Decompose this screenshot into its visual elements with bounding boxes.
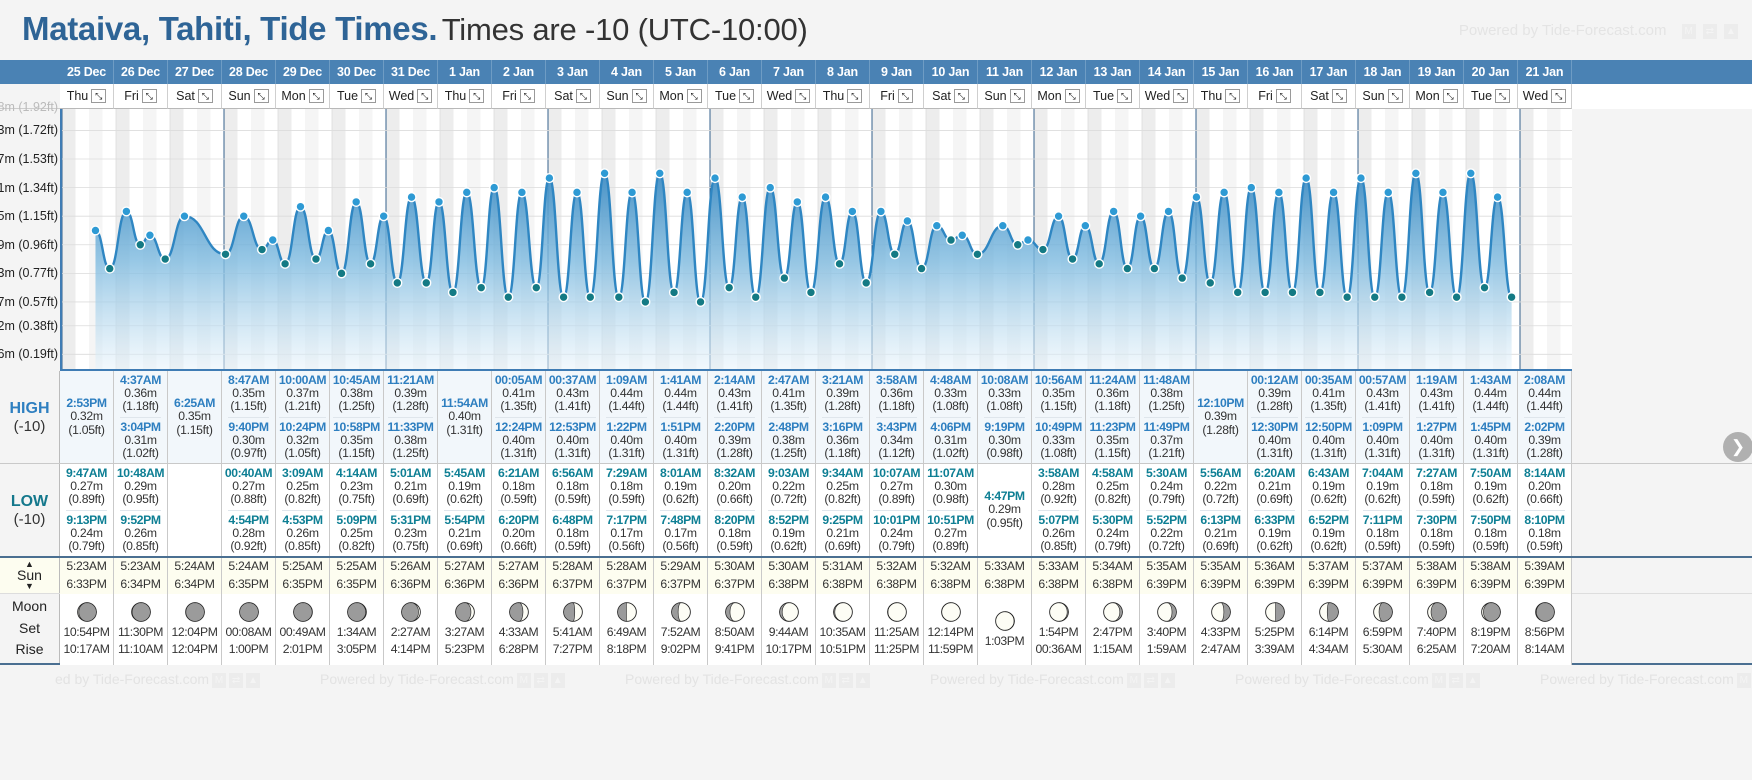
moon-phase-icon xyxy=(454,601,476,623)
moon-phase-icon xyxy=(724,601,746,623)
watermark-row: ed by Tide-Forecast.comM⇄▲Powered by Tid… xyxy=(0,665,1752,693)
low-tide-time: 5:09PM xyxy=(336,514,376,527)
low-tide-time: 7:30PM xyxy=(1416,514,1456,527)
low-tide-meters: 0.18m xyxy=(1524,527,1564,540)
expand-day-icon[interactable]: ⤡ xyxy=(417,89,432,103)
high-tide-feet: (1.28ft) xyxy=(1197,424,1244,437)
date-header-gutter xyxy=(0,60,60,84)
expand-day-icon[interactable]: ⤡ xyxy=(1551,89,1566,103)
expand-day-icon[interactable]: ⤡ xyxy=(1225,89,1240,103)
moonrise-time: 7:20AM xyxy=(1471,641,1511,658)
low-tide-feet: (0.66ft) xyxy=(1524,493,1565,506)
low-tide-feet: (0.85ft) xyxy=(282,540,322,553)
y-axis-tick-label: 0.23m (0.77ft) xyxy=(0,266,58,280)
expand-day-icon[interactable]: ⤡ xyxy=(1495,89,1510,103)
low-tide-time: 4:54PM xyxy=(228,514,268,527)
low-tide-feet: (0.69ft) xyxy=(390,493,431,506)
y-axis-tick-label: 0.35m (1.15ft) xyxy=(0,209,58,223)
high-tide-cell: 00:37AM0.43m(1.41ft)12:53PM0.40m(1.31ft) xyxy=(546,371,600,463)
low-tide-event: 4:53PM0.26m(0.85ft) xyxy=(282,510,322,555)
moonset-time: 12:14PM xyxy=(928,624,974,641)
dayname-header-cell: Fri⤡ xyxy=(492,84,546,109)
moonrise-time: 2:01PM xyxy=(283,641,323,658)
low-tide-event: 5:07PM0.26m(0.85ft) xyxy=(1038,510,1078,555)
low-tide-feet: (0.82ft) xyxy=(1092,493,1133,506)
high-tide-feet: (1.25ft) xyxy=(768,447,808,460)
low-tide-time: 7:50PM xyxy=(1470,514,1510,527)
high-tide-time: 11:49PM xyxy=(1144,421,1190,434)
high-tide-feet: (1.02ft) xyxy=(120,447,160,460)
high-tide-cell: 1:09AM0.44m(1.44ft)1:22PM0.40m(1.31ft) xyxy=(600,371,654,463)
high-tide-feet: (1.02ft) xyxy=(930,447,970,460)
date-header-cell[interactable]: 10 Jan xyxy=(924,60,978,84)
high-tide-time: 1:45PM xyxy=(1470,421,1510,434)
high-tide-event: 4:37AM0.36m(1.18ft) xyxy=(120,373,161,415)
high-tide-feet: (1.41ft) xyxy=(549,400,596,413)
date-header-cell[interactable]: 21 Jan xyxy=(1518,60,1572,84)
expand-day-icon[interactable]: ⤡ xyxy=(1117,89,1132,103)
low-tide-meters: 0.23m xyxy=(390,527,430,540)
high-tide-event: 3:43PM0.34m(1.12ft) xyxy=(876,417,916,462)
low-tide-event: 10:51PM0.27m(0.89ft) xyxy=(927,510,974,555)
moon-cell: 3:40PM1:59AM xyxy=(1140,594,1194,665)
sunset-time: 6:34PM xyxy=(120,576,160,594)
high-tide-cell: 1:41AM0.44m(1.44ft)1:51PM0.40m(1.31ft) xyxy=(654,371,708,463)
expand-day-icon[interactable]: ⤡ xyxy=(739,89,754,103)
low-tide-event: 5:09PM0.25m(0.82ft) xyxy=(336,510,376,555)
refresh-icon: ⇄ xyxy=(1449,673,1463,688)
date-header-cell[interactable]: 8 Jan xyxy=(816,60,870,84)
moonset-time: 4:33AM xyxy=(499,624,539,641)
date-header-cell[interactable]: 20 Jan xyxy=(1464,60,1518,84)
date-header-cell[interactable]: 1 Jan xyxy=(438,60,492,84)
dayname-header-cell: Tue⤡ xyxy=(330,84,384,109)
chart-y-axis: 0.53m (1.72ft)0.47m (1.53ft)0.41m (1.34f… xyxy=(0,109,60,371)
high-tide-event: 11:23PM0.35m(1.15ft) xyxy=(1090,417,1136,462)
low-tide-cell: 00:40AM0.27m(0.88ft)4:54PM0.28m(0.92ft) xyxy=(222,464,276,556)
dayname-header-cell: Thu⤡ xyxy=(1194,84,1248,109)
sunset-time: 6:38PM xyxy=(984,576,1024,594)
dayname-label: Fri xyxy=(502,89,517,103)
sun-cell: 5:38AM6:39PM xyxy=(1464,558,1518,594)
low-tide-meters: 0.25m xyxy=(336,527,376,540)
low-tide-feet: (0.69ft) xyxy=(1200,540,1240,553)
low-tide-feet: (0.59ft) xyxy=(1416,493,1457,506)
high-tide-feet: (1.21ft) xyxy=(279,400,326,413)
sunset-time: 6:35PM xyxy=(336,576,376,594)
sunrise-time: 5:38AM xyxy=(1416,558,1456,576)
moonrise-time: 1:00PM xyxy=(229,641,269,658)
sunset-time: 6:39PM xyxy=(1470,576,1510,594)
date-header-cell[interactable]: 31 Dec xyxy=(384,60,438,84)
dayname-label: Thu xyxy=(67,89,89,103)
expand-day-icon[interactable]: ⤡ xyxy=(1173,89,1188,103)
low-tide-feet: (0.89ft) xyxy=(66,493,107,506)
high-tide-feet: (1.25ft) xyxy=(1143,400,1190,413)
low-tide-meters: 0.18m xyxy=(1416,527,1456,540)
moon-phase-icon xyxy=(292,601,314,623)
high-tide-event: 3:58AM0.36m(1.18ft) xyxy=(876,373,917,415)
moonrise-time: 10:17PM xyxy=(766,641,812,658)
high-tide-event: 3:21AM0.39m(1.28ft) xyxy=(822,373,863,415)
refresh-icon: ⇄ xyxy=(229,673,243,688)
dayname-header-cell: Wed⤡ xyxy=(762,84,816,109)
moonset-time: 8:50AM xyxy=(715,624,755,641)
watermark-text: Powered by Tide-Forecast.com xyxy=(320,671,514,687)
page-subtitle: Times are -10 (UTC-10:00) xyxy=(442,12,808,47)
low-tide-feet: (0.75ft) xyxy=(336,493,377,506)
date-header-cell[interactable]: 4 Jan xyxy=(600,60,654,84)
sunset-time: 6:38PM xyxy=(1038,576,1078,594)
high-tide-event: 1:22PM0.40m(1.31ft) xyxy=(606,417,646,462)
low-tide-feet: (0.89ft) xyxy=(873,493,920,506)
high-tide-meters: 0.32m xyxy=(279,434,326,447)
moon-cell: 6:49AM8:18PM xyxy=(600,594,654,665)
low-tide-feet: (0.69ft) xyxy=(1254,493,1295,506)
low-tide-cell: 6:21AM0.18m(0.59ft)6:20PM0.20m(0.66ft) xyxy=(492,464,546,556)
moon-cell: 12:14PM11:59PM xyxy=(924,594,978,665)
high-tide-cell: 00:35AM0.41m(1.35ft)12:50PM0.40m(1.31ft) xyxy=(1302,371,1356,463)
moon-cell: 4:33PM2:47AM xyxy=(1194,594,1248,665)
sun-cell: 5:33AM6:38PM xyxy=(978,558,1032,594)
high-tide-event: 10:24PM0.32m(1.05ft) xyxy=(279,417,326,462)
low-tide-meters: 0.26m xyxy=(120,527,160,540)
moon-phase-icon xyxy=(238,601,260,623)
expand-day-icon[interactable]: ⤡ xyxy=(309,89,324,103)
high-tide-time: 2:02PM xyxy=(1524,421,1564,434)
sun-cell: 5:34AM6:38PM xyxy=(1086,558,1140,594)
date-header-cell[interactable]: 25 Dec xyxy=(60,60,114,84)
sun-cell: 5:32AM6:38PM xyxy=(924,558,978,594)
expand-day-icon[interactable]: ⤡ xyxy=(1443,89,1458,103)
tide-forecast-page: Mataiva, Tahiti, Tide Times. Times are -… xyxy=(0,0,1752,780)
high-tide-feet: (1.31ft) xyxy=(1251,447,1298,460)
high-tide-event: 1:51PM0.40m(1.31ft) xyxy=(660,417,700,462)
sunrise-time: 5:37AM xyxy=(1362,558,1402,576)
moon-cell: 7:40PM6:25AM xyxy=(1410,594,1464,665)
moonset-time: 8:56PM xyxy=(1525,624,1565,641)
moon-cell: 12:04PM12:04PM xyxy=(168,594,222,665)
scroll-right-button[interactable]: ❯ xyxy=(1723,432,1752,462)
low-tide-event: 7:11PM0.18m(0.59ft) xyxy=(1363,510,1403,555)
date-header-cell[interactable]: 17 Jan xyxy=(1302,60,1356,84)
low-tide-tz: (-10) xyxy=(14,511,46,528)
low-tide-time: 9:52PM xyxy=(120,514,160,527)
date-header-cell[interactable]: 15 Jan xyxy=(1194,60,1248,84)
high-tide-meters: 0.31m xyxy=(930,434,970,447)
high-tide-row: HIGH (-10) 2:53PM0.32m(1.05ft)4:37AM0.36… xyxy=(0,371,1752,464)
date-header-cell[interactable]: 19 Jan xyxy=(1410,60,1464,84)
windy-icon: M xyxy=(1127,673,1141,688)
low-tide-event: 10:07AM0.27m(0.89ft) xyxy=(873,466,920,508)
sun-cell: 5:30AM6:37PM xyxy=(708,558,762,594)
low-tide-event: 7:50PM0.18m(0.59ft) xyxy=(1470,510,1510,555)
windy-icon: M xyxy=(212,673,226,688)
moon-phase-icon xyxy=(76,601,98,623)
moonset-time: 5:41AM xyxy=(553,624,593,641)
expand-day-icon[interactable]: ⤡ xyxy=(576,89,591,103)
sunset-time: 6:38PM xyxy=(1092,576,1132,594)
date-header-cell[interactable]: 16 Jan xyxy=(1248,60,1302,84)
tide-table-viewport[interactable]: 25 Dec26 Dec27 Dec28 Dec29 Dec30 Dec31 D… xyxy=(0,60,1752,780)
high-tide-meters: 0.35m xyxy=(333,434,380,447)
watermark-icons: M⇄▲ xyxy=(1429,671,1480,687)
date-header-cell[interactable]: 6 Jan xyxy=(708,60,762,84)
windy-icon: M xyxy=(822,673,836,688)
high-tide-feet: (1.41ft) xyxy=(714,400,755,413)
low-tide-cell: 8:01AM0.19m(0.62ft)7:48PM0.17m(0.56ft) xyxy=(654,464,708,556)
high-tide-time: 12:50PM xyxy=(1305,421,1352,434)
moonset-time: 10:54PM xyxy=(64,624,110,641)
expand-day-icon[interactable]: ⤡ xyxy=(142,89,157,103)
date-header-cell[interactable]: 26 Dec xyxy=(114,60,168,84)
dayname-header-cell: Mon⤡ xyxy=(1032,84,1086,109)
low-tide-feet: (0.66ft) xyxy=(714,493,755,506)
high-tide-time: 2:20PM xyxy=(714,421,754,434)
low-tide-time: 6:33PM xyxy=(1254,514,1294,527)
low-tide-cell: 10:07AM0.27m(0.89ft)10:01PM0.24m(0.79ft) xyxy=(870,464,924,556)
dayname-label: Sat xyxy=(176,89,195,103)
sunset-time: 6:37PM xyxy=(714,576,754,594)
date-header-cell[interactable]: 7 Jan xyxy=(762,60,816,84)
moonset-time: 3:27AM xyxy=(445,624,485,641)
high-tide-feet: (0.97ft) xyxy=(228,447,268,460)
high-tide-time: 9:19PM xyxy=(984,421,1024,434)
low-tide-feet: (0.62ft) xyxy=(1362,493,1403,506)
dayname-header-cell: Thu⤡ xyxy=(60,84,114,109)
high-tide-feet: (1.44ft) xyxy=(1470,400,1511,413)
expand-day-icon[interactable]: ⤡ xyxy=(520,89,535,103)
powered-by-text: Powered by Tide-Forecast.com xyxy=(1459,22,1667,39)
low-tide-feet: (0.95ft) xyxy=(984,517,1024,530)
sunset-time: 6:36PM xyxy=(498,576,538,594)
high-tide-time: 10:49PM xyxy=(1035,421,1082,434)
moonrise-time: 2:47AM xyxy=(1201,641,1241,658)
tide-curve-plot xyxy=(60,109,1572,371)
moonrise-time: 10:51PM xyxy=(820,641,866,658)
high-tide-time: 12:24PM xyxy=(495,421,542,434)
moon-phase-icon xyxy=(778,601,800,623)
date-header-cell[interactable]: 2 Jan xyxy=(492,60,546,84)
y-axis-tick-label: 0.06m (0.19ft) xyxy=(0,347,58,361)
expand-day-icon[interactable]: ⤡ xyxy=(687,89,702,103)
high-tide-feet: (1.28ft) xyxy=(1251,400,1298,413)
windy-icon: M xyxy=(1682,24,1696,39)
high-tide-feet: (1.15ft) xyxy=(333,447,380,460)
expand-day-icon[interactable]: ⤡ xyxy=(361,89,376,103)
dayname-header-cell: Wed⤡ xyxy=(1140,84,1194,109)
moon-phase-icon xyxy=(1426,601,1448,623)
expand-day-icon[interactable]: ⤡ xyxy=(795,89,810,103)
high-tide-meters: 0.40m xyxy=(549,434,596,447)
expand-day-icon[interactable]: ⤡ xyxy=(632,89,647,103)
sun-cell: 5:25AM6:35PM xyxy=(276,558,330,594)
low-tide-time: 8:20PM xyxy=(714,514,754,527)
expand-day-icon[interactable]: ⤡ xyxy=(847,89,862,103)
low-tide-event: 7:29AM0.18m(0.59ft) xyxy=(606,466,647,508)
high-tide-event: 12:24PM0.40m(1.31ft) xyxy=(495,417,542,462)
high-tide-event: 00:35AM0.41m(1.35ft) xyxy=(1305,373,1352,415)
sunrise-time: 5:25AM xyxy=(336,558,376,576)
high-tide-event: 4:48AM0.33m(1.08ft) xyxy=(930,373,971,415)
sun-cell: 5:37AM6:39PM xyxy=(1356,558,1410,594)
high-tide-cell: 2:47AM0.41m(1.35ft)2:48PM0.38m(1.25ft) xyxy=(762,371,816,463)
high-tide-cell: 10:45AM0.38m(1.25ft)10:58PM0.35m(1.15ft) xyxy=(330,371,384,463)
expand-day-icon[interactable]: ⤡ xyxy=(898,89,913,103)
high-tide-event: 12:50PM0.40m(1.31ft) xyxy=(1305,417,1352,462)
watermark-icons: M⇄▲ xyxy=(819,671,870,687)
watermark: ed by Tide-Forecast.comM⇄▲ xyxy=(55,671,260,688)
low-tide-feet: (0.79ft) xyxy=(66,540,106,553)
high-tide-time: 12:30PM xyxy=(1251,421,1298,434)
high-tide-event: 10:00AM0.37m(1.21ft) xyxy=(279,373,326,415)
date-header-cell[interactable]: 13 Jan xyxy=(1086,60,1140,84)
date-header-cell[interactable]: 5 Jan xyxy=(654,60,708,84)
low-tide-feet: (0.59ft) xyxy=(552,493,593,506)
sunrise-time: 5:39AM xyxy=(1524,558,1564,576)
sunset-time: 6:38PM xyxy=(768,576,808,594)
moonset-time: 1:54PM xyxy=(1039,624,1079,641)
dayname-label: Tue xyxy=(1471,89,1492,103)
low-tide-feet: (0.85ft) xyxy=(120,540,160,553)
low-tide-feet: (0.95ft) xyxy=(117,493,164,506)
moonrise-time: 3:39AM xyxy=(1255,641,1295,658)
expand-day-icon[interactable]: ⤡ xyxy=(1010,89,1025,103)
dayname-header-cell: Mon⤡ xyxy=(654,84,708,109)
low-tide-feet: (0.82ft) xyxy=(822,493,863,506)
expand-day-icon[interactable]: ⤡ xyxy=(1276,89,1291,103)
moonset-time: 5:25PM xyxy=(1255,624,1295,641)
low-tide-event: 9:52PM0.26m(0.85ft) xyxy=(120,510,160,555)
date-header-cell[interactable]: 11 Jan xyxy=(978,60,1032,84)
date-header-cell[interactable]: 12 Jan xyxy=(1032,60,1086,84)
moonrise-time: 4:14PM xyxy=(391,641,431,658)
high-tide-feet: (1.31ft) xyxy=(1416,447,1456,460)
dayname-header-cell: Thu⤡ xyxy=(816,84,870,109)
expand-day-icon[interactable]: ⤡ xyxy=(1065,89,1080,103)
low-tide-feet: (0.72ft) xyxy=(768,493,809,506)
low-tide-feet: (0.62ft) xyxy=(1254,540,1294,553)
page-header: Mataiva, Tahiti, Tide Times. Times are -… xyxy=(0,0,1752,60)
low-tide-cell: 6:56AM0.18m(0.59ft)6:48PM0.18m(0.59ft) xyxy=(546,464,600,556)
low-tide-event: 7:48PM0.17m(0.56ft) xyxy=(660,510,700,555)
low-tide-feet: (0.62ft) xyxy=(444,493,485,506)
sunrise-time: 5:32AM xyxy=(930,558,970,576)
high-tide-time: 1:09PM xyxy=(1362,421,1402,434)
moonset-time: 11:25AM xyxy=(874,624,919,641)
date-header-cell[interactable]: 27 Dec xyxy=(168,60,222,84)
dayname-label: Fri xyxy=(124,89,139,103)
sun-cell: 5:28AM6:37PM xyxy=(600,558,654,594)
high-tide-feet: (1.44ft) xyxy=(660,400,701,413)
date-header-cell[interactable]: 28 Dec xyxy=(222,60,276,84)
high-tide-cell: 00:57AM0.43m(1.41ft)1:09PM0.40m(1.31ft) xyxy=(1356,371,1410,463)
surf-icon: ▲ xyxy=(856,673,870,688)
moon-phase-icon xyxy=(1264,601,1286,623)
moonrise-time: 11:10AM xyxy=(118,641,163,658)
sun-row-label[interactable]: ▲ Sun ▼ xyxy=(0,558,60,593)
high-tide-cell: 11:24AM0.36m(1.18ft)11:23PM0.35m(1.15ft) xyxy=(1086,371,1140,463)
date-header-cell[interactable]: 14 Jan xyxy=(1140,60,1194,84)
date-header-cell[interactable]: 3 Jan xyxy=(546,60,600,84)
expand-day-icon[interactable]: ⤡ xyxy=(954,89,969,103)
sunset-time: 6:34PM xyxy=(174,576,214,594)
low-tide-feet: (0.82ft) xyxy=(282,493,323,506)
expand-day-icon[interactable]: ⤡ xyxy=(254,89,269,103)
moonset-time: 10:35AM xyxy=(820,624,866,641)
high-tide-meters: 0.38m xyxy=(768,434,808,447)
expand-day-icon[interactable]: ⤡ xyxy=(91,89,106,103)
date-header-cell[interactable]: 29 Dec xyxy=(276,60,330,84)
high-tide-feet: (1.08ft) xyxy=(981,400,1028,413)
high-tide-time: 3:43PM xyxy=(876,421,916,434)
high-tide-event: 12:53PM0.40m(1.31ft) xyxy=(549,417,596,462)
low-tide-event: 8:52PM0.19m(0.62ft) xyxy=(768,510,808,555)
high-tide-feet: (1.15ft) xyxy=(228,400,269,413)
sun-cell: 5:32AM6:38PM xyxy=(870,558,924,594)
dayname-header-cell: Sat⤡ xyxy=(168,84,222,109)
expand-day-icon[interactable]: ⤡ xyxy=(469,89,484,103)
high-tide-time: 11:33PM xyxy=(388,421,434,434)
high-tide-event: 2:53PM0.32m(1.05ft) xyxy=(66,396,106,438)
windy-icon: M xyxy=(1432,673,1446,688)
refresh-icon: ⇄ xyxy=(1144,673,1158,688)
sunset-time: 6:37PM xyxy=(660,576,700,594)
expand-day-icon[interactable]: ⤡ xyxy=(198,89,213,103)
low-tide-event: 5:56AM0.22m(0.72ft) xyxy=(1200,466,1241,508)
high-tide-event: 1:09PM0.40m(1.31ft) xyxy=(1362,417,1402,462)
moon-phase-icon xyxy=(1318,601,1340,623)
watermark-text: Powered by Tide-Forecast.com xyxy=(1540,671,1734,687)
dayname-label: Sat xyxy=(932,89,951,103)
low-tide-feet: (0.79ft) xyxy=(1146,493,1187,506)
low-tide-event: 7:50AM0.19m(0.62ft) xyxy=(1470,466,1511,508)
high-tide-cell: 6:25AM0.35m(1.15ft) xyxy=(168,371,222,463)
sunset-time: 6:35PM xyxy=(282,576,322,594)
moonset-time: 11:30PM xyxy=(118,624,163,641)
low-tide-event: 6:48PM0.18m(0.59ft) xyxy=(552,510,592,555)
high-tide-feet: (1.05ft) xyxy=(279,447,326,460)
low-tide-meters: 0.18m xyxy=(1363,527,1403,540)
date-header-cell[interactable]: 9 Jan xyxy=(870,60,924,84)
sun-cell: 5:27AM6:36PM xyxy=(438,558,492,594)
moonrise-time: 6:25AM xyxy=(1417,641,1457,658)
moon-phase-icon xyxy=(1156,601,1178,623)
high-tide-meters: 0.40m xyxy=(1305,434,1352,447)
high-tide-meters: 0.39m xyxy=(1197,410,1244,423)
dayname-header-cell: Sun⤡ xyxy=(600,84,654,109)
sun-row: ▲ Sun ▼ 5:23AM6:33PM5:23AM6:34PM5:24AM6:… xyxy=(0,558,1752,594)
dayname-header-cell: Sun⤡ xyxy=(978,84,1032,109)
high-tide-event: 9:19PM0.30m(0.98ft) xyxy=(984,417,1024,462)
low-tide-feet: (0.98ft) xyxy=(927,493,974,506)
dayname-header-row: Thu⤡Fri⤡Sat⤡Sun⤡Mon⤡Tue⤡Wed⤡Thu⤡Fri⤡Sat⤡… xyxy=(0,84,1752,109)
date-header-cell[interactable]: 30 Dec xyxy=(330,60,384,84)
low-tide-meters: 0.24m xyxy=(66,527,106,540)
high-tide-event: 2:08AM0.44m(1.44ft) xyxy=(1524,373,1565,415)
high-tide-event: 1:41AM0.44m(1.44ft) xyxy=(660,373,701,415)
sunrise-time: 5:37AM xyxy=(1308,558,1348,576)
high-tide-feet: (1.15ft) xyxy=(1090,447,1136,460)
expand-day-icon[interactable]: ⤡ xyxy=(1388,89,1403,103)
dayname-header-cell: Wed⤡ xyxy=(384,84,438,109)
high-tide-event: 1:45PM0.40m(1.31ft) xyxy=(1470,417,1510,462)
high-tide-time: 1:51PM xyxy=(660,421,700,434)
expand-day-icon[interactable]: ⤡ xyxy=(1332,89,1347,103)
high-tide-event: 11:49PM0.37m(1.21ft) xyxy=(1144,417,1190,462)
date-header-cell[interactable]: 18 Jan xyxy=(1356,60,1410,84)
dayname-label: Thu xyxy=(445,89,467,103)
